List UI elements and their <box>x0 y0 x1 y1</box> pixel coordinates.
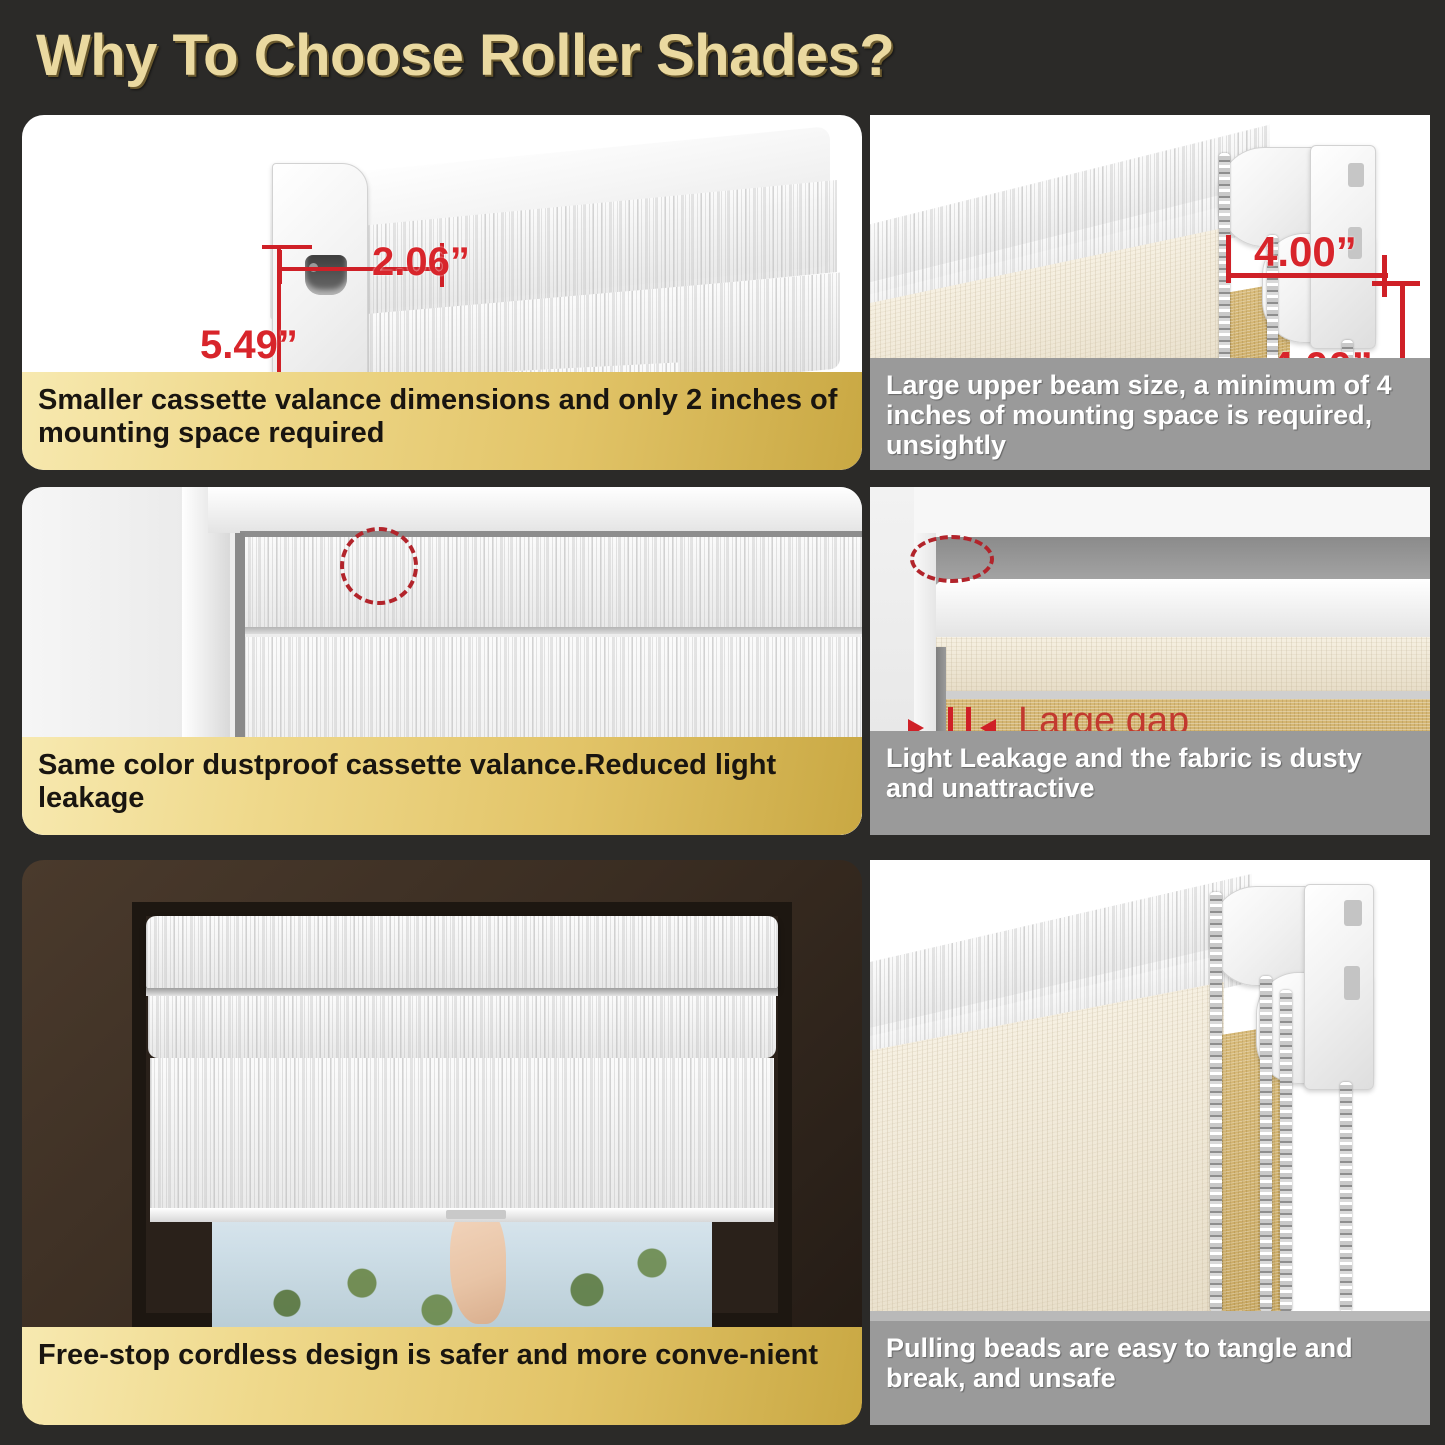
leak-wall-top <box>914 487 1430 539</box>
panel-4-caption: Light Leakage and the fabric is dusty an… <box>870 731 1430 835</box>
bottom-rail-grip <box>446 1210 506 1219</box>
beam-width-label: 4.00” <box>1254 228 1357 276</box>
panel-dustproof-valance: smaller gap Same color dustproof cassett… <box>22 487 862 835</box>
beam-height-tick-top <box>1372 281 1420 286</box>
panel-cordless-design: Free-stop cordless design is safer and m… <box>22 860 862 1425</box>
panel-3-caption: Same color dustproof cassette valance.Re… <box>22 737 862 835</box>
beam-width-tick-left <box>1226 235 1231 283</box>
height-dimension-label: 5.49” <box>200 323 298 368</box>
panel-2-caption: Large upper beam size, a minimum of 4 in… <box>870 358 1430 470</box>
cassette-valance-band <box>240 535 862 631</box>
panel-5-caption: Free-stop cordless design is safer and m… <box>22 1327 862 1425</box>
bead-chain-1 <box>1210 892 1222 1312</box>
bead-chain-4 <box>1340 1082 1352 1312</box>
wall-plate-slot-1 <box>1348 163 1364 187</box>
headrail-lip <box>146 988 778 996</box>
hand-pulling-shade <box>450 1204 506 1324</box>
height-tick-top <box>262 245 312 249</box>
window-casing-top <box>208 487 862 533</box>
bead-plate-slot-2 <box>1344 966 1360 1000</box>
bead-wall-plate <box>1304 884 1374 1090</box>
bead-plate-slot-1 <box>1344 900 1362 926</box>
cassette-headrail <box>146 916 778 990</box>
panel-pulling-beads: Pulling beads are easy to tangle and bre… <box>870 860 1430 1425</box>
roller-tube-front <box>148 996 776 1058</box>
panel-6-caption: Pulling beads are easy to tangle and bre… <box>870 1321 1430 1425</box>
shade-fabric-body <box>150 1058 774 1216</box>
highlight-ellipse-gap <box>910 535 994 583</box>
panel-1-caption: Smaller cassette valance dimensions and … <box>22 372 862 470</box>
valance-bottom-lip <box>240 627 862 634</box>
beam-width-tick-right <box>1382 255 1387 297</box>
panel-light-leakage: Large gap Light Leakage and the fabric i… <box>870 487 1430 835</box>
bead-chain-3 <box>1280 990 1292 1312</box>
leak-roller-tube <box>930 579 1430 645</box>
panel-cassette-dimensions: 2.06” 5.49” Smaller cassette valance dim… <box>22 115 862 470</box>
page-title: Why To Choose Roller Shades? <box>36 22 1416 90</box>
leak-fabric-cream <box>936 637 1430 695</box>
end-cap-slot <box>305 255 347 295</box>
panel-large-upper-beam: 4.00” 4.00” Large upper beam size, a min… <box>870 115 1430 470</box>
highlight-circle-gap <box>340 527 418 605</box>
bead-chain-2 <box>1260 976 1272 1312</box>
infographic-root: Why To Choose Roller Shades? 2.06” 5.49” <box>0 0 1445 1445</box>
valance-top-edge-line <box>240 531 862 537</box>
width-dimension-label: 2.06” <box>372 240 470 285</box>
